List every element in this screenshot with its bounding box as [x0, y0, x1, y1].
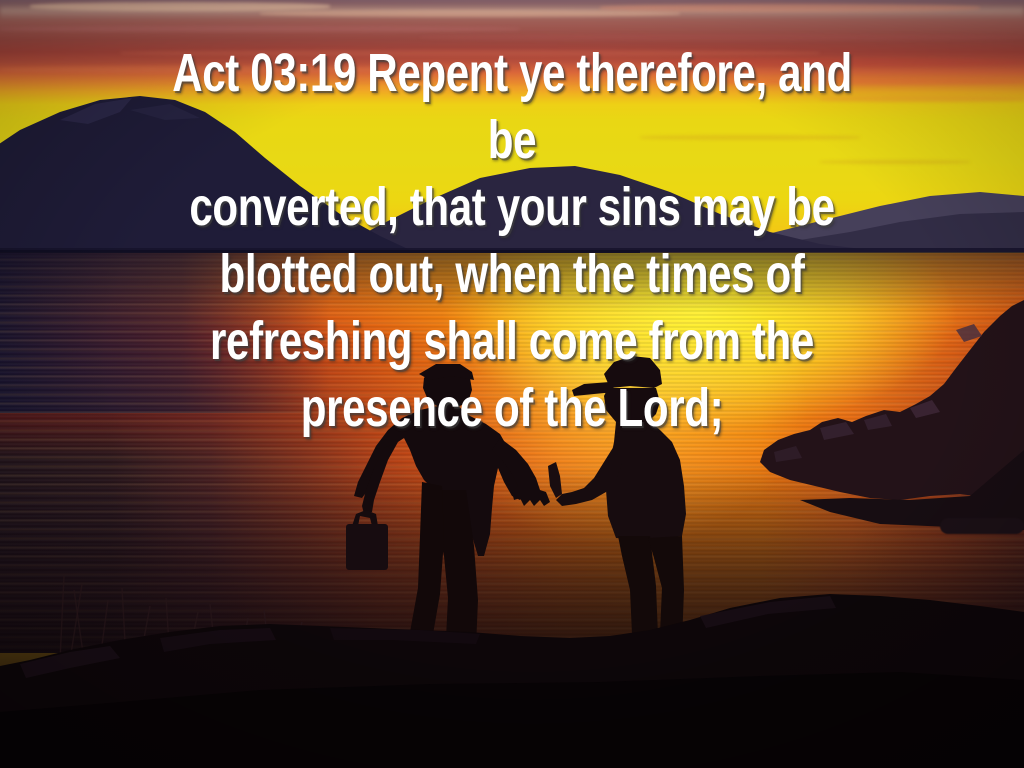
scripture-image: Act 03:19 Repent ye therefore, and be co…: [0, 0, 1024, 768]
verse-text: Act 03:19 Repent ye therefore, and be co…: [113, 40, 912, 442]
